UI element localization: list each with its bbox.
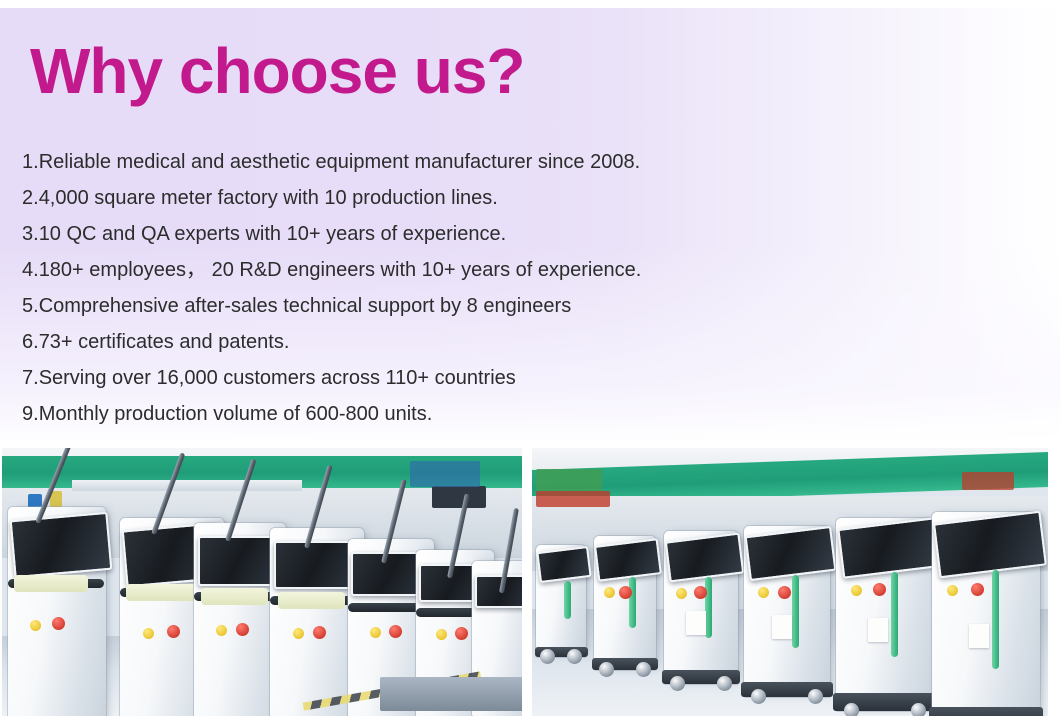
list-item-number: 1. <box>22 144 39 180</box>
list-item-text: 4,000 square meter factory with 10 produ… <box>39 180 498 216</box>
list-item-number: 4. <box>22 252 39 288</box>
factory-production-line-photo-right <box>532 448 1048 716</box>
list-item-text: Serving over 16,000 customers across 110… <box>39 360 516 396</box>
list-item-text: Reliable medical and aesthetic equipment… <box>39 144 640 180</box>
content-panel: Why choose us? 1. Reliable medical and a… <box>0 8 1060 440</box>
list-item: 1. Reliable medical and aesthetic equipm… <box>22 144 742 180</box>
list-item: 5. Comprehensive after-sales technical s… <box>22 288 742 324</box>
list-item-number: 3. <box>22 216 39 252</box>
list-item-number: 7. <box>22 360 39 396</box>
list-item-text: 73+ certificates and patents. <box>39 324 290 360</box>
list-item: 2. 4,000 square meter factory with 10 pr… <box>22 180 742 216</box>
factory-assembly-line-photo-left <box>2 448 522 716</box>
list-item: 3. 10 QC and QA experts with 10+ years o… <box>22 216 742 252</box>
list-item-text: Monthly production volume of 600-800 uni… <box>39 396 433 432</box>
benefits-list: 1. Reliable medical and aesthetic equipm… <box>22 144 742 432</box>
list-item-number: 6. <box>22 324 39 360</box>
list-item-number: 9. <box>22 396 39 432</box>
list-item-number: 5. <box>22 288 39 324</box>
list-item: 7. Serving over 16,000 customers across … <box>22 360 742 396</box>
list-item-number: 2. <box>22 180 39 216</box>
list-item-text: Comprehensive after-sales technical supp… <box>39 288 572 324</box>
list-item: 9. Monthly production volume of 600-800 … <box>22 396 742 432</box>
slide-root: Why choose us? 1. Reliable medical and a… <box>0 0 1060 716</box>
list-item-text: 10 QC and QA experts with 10+ years of e… <box>39 216 506 252</box>
photo-strip <box>0 448 1060 716</box>
list-item: 4. 180+ employees， 20 R&D engineers with… <box>22 252 742 288</box>
list-item-text: 180+ employees， 20 R&D engineers with 10… <box>39 252 642 288</box>
list-item: 6. 73+ certificates and patents. <box>22 324 742 360</box>
page-title: Why choose us? <box>30 38 525 105</box>
